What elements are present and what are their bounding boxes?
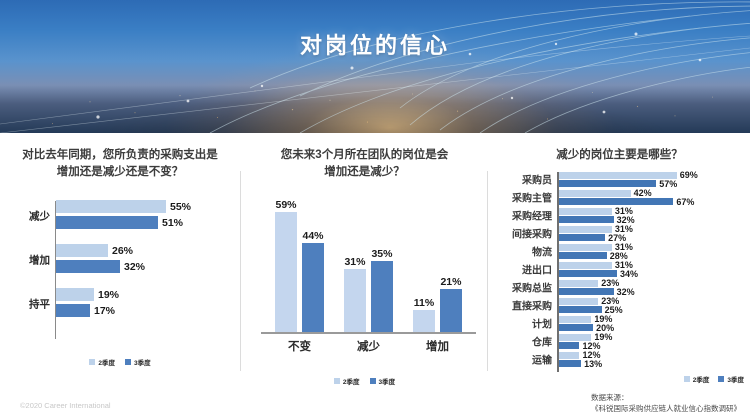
header-banner: 对岗位的信心	[0, 0, 750, 133]
chart-3-category-label: 仓库	[489, 334, 552, 349]
chart-3-bar-row: 34%	[559, 270, 750, 277]
legend-label-q3: 3季度	[727, 374, 744, 384]
chart-1-bar-pair: 26%32%	[56, 241, 240, 279]
chart-3-bar-row: 32%	[559, 216, 750, 223]
chart-3-value-label-q3: 67%	[673, 197, 694, 207]
chart-3-bar-row: 67%	[559, 198, 750, 205]
chart-2-bar-q3	[371, 261, 393, 332]
chart-3-row: 间接采购31%27%	[489, 224, 750, 242]
legend-item-q2: 2季度	[89, 357, 115, 367]
legend-item-q3: 3季度	[718, 374, 744, 384]
chart-3-bar-q2	[559, 244, 612, 251]
chart-1-value-label-q2: 26%	[108, 245, 133, 257]
chart-1-bar-row: 19%	[56, 288, 240, 301]
chart-3-category-label: 采购经理	[489, 208, 552, 223]
chart-3-bar-row: 12%	[559, 352, 750, 359]
chart-3-bar-row: 27%	[559, 234, 750, 241]
chart-3-bar-row: 31%	[559, 244, 750, 251]
chart-1-category-label: 减少	[0, 209, 50, 224]
chart-3-bar-q3	[559, 216, 614, 223]
chart-1-bar-row: 17%	[56, 304, 240, 317]
chart-3-bar-q3	[559, 180, 656, 187]
chart-1-title: 对比去年同期，您所负责的采购支出是 增加还是减少还是不变？	[0, 133, 240, 181]
chart-3-bar-pair: 31%27%	[559, 224, 750, 242]
chart-3-bar-row: 31%	[559, 226, 750, 233]
chart-3-bar-q3	[559, 234, 605, 241]
chart-3-category-label: 计划	[489, 316, 552, 331]
chart-3-bar-row: 31%	[559, 262, 750, 269]
chart-3-value-label-q3: 28%	[607, 251, 628, 261]
chart-3-bar-row: 19%	[559, 316, 750, 323]
chart-3-bar-q2	[559, 226, 612, 233]
chart-1-group: 持平19%17%	[0, 285, 240, 323]
chart-3-row: 采购主管42%67%	[489, 188, 750, 206]
chart-3-category-label: 进出口	[489, 262, 552, 277]
chart-2-category-label: 不变	[265, 338, 334, 354]
chart-1-value-label-q2: 55%	[166, 201, 191, 213]
chart-1-bar-q3	[56, 260, 120, 273]
legend-swatch-icon-q3	[370, 378, 376, 384]
legend-item-q2: 2季度	[334, 376, 360, 386]
chart-2-value-label-q2: 59%	[275, 199, 296, 211]
chart-3-bar-q3	[559, 198, 673, 205]
legend-item-q3: 3季度	[370, 376, 396, 386]
legend-label-q3: 3季度	[379, 376, 396, 386]
chart-1-bar-q2	[56, 200, 166, 213]
chart-2-bar-wrap: 44%	[302, 243, 324, 332]
chart-2-plot: 59%44%31%35%11%21% 不变减少增加	[243, 191, 486, 366]
chart-2-bar-q3	[440, 289, 462, 332]
chart-3-bar-q2	[559, 172, 677, 179]
chart-3-value-label-q3: 13%	[581, 359, 602, 369]
chart-1-value-label-q3: 51%	[158, 217, 183, 229]
chart-3-row: 运输12%13%	[489, 350, 750, 368]
chart-3-plot: 2季度 3季度 采购员69%57%采购主管42%67%采购经理31%32%间接采…	[489, 170, 750, 380]
chart-2-bar-q2	[413, 310, 435, 332]
legend-swatch-icon-q3	[125, 359, 131, 365]
legend-swatch-icon-q3	[718, 376, 724, 382]
chart-1-group: 减少55%51%	[0, 197, 240, 235]
chart-3-bar-q2	[559, 208, 612, 215]
chart-3-bar-q3	[559, 252, 607, 259]
chart-2-category-labels: 不变减少增加	[265, 338, 472, 354]
chart-3-bar-row: 42%	[559, 190, 750, 197]
chart-1-plot: 减少55%51%增加26%32%持平19%17%	[0, 197, 240, 347]
chart-2-legend: 2季度 3季度	[243, 376, 486, 386]
chart-3-bar-pair: 19%20%	[559, 314, 750, 332]
chart-3-row: 采购员69%57%	[489, 170, 750, 188]
chart-2-value-label-q2: 31%	[344, 256, 365, 268]
chart-3-bar-q2	[559, 190, 631, 197]
chart-3-value-label-q2: 42%	[631, 188, 652, 198]
chart-3-bar-pair: 23%25%	[559, 296, 750, 314]
chart-3-bar-row: 20%	[559, 324, 750, 331]
chart-2-baseline	[261, 332, 476, 334]
chart-3-category-label: 直接采购	[489, 298, 552, 313]
chart-2-bar-wrap: 21%	[440, 289, 462, 332]
chart-2-value-label-q2: 11%	[414, 297, 434, 309]
chart-2-bar-q2	[275, 212, 297, 332]
chart-3-value-label-q3: 32%	[614, 215, 635, 225]
page-title: 对岗位的信心	[0, 28, 750, 60]
panel-divider-1	[240, 171, 241, 371]
chart-3-value-label-q3: 12%	[579, 341, 600, 351]
chart-1-bar-pair: 55%51%	[56, 197, 240, 235]
chart-3-row: 进出口31%34%	[489, 260, 750, 278]
chart-3-row: 采购总监23%32%	[489, 278, 750, 296]
chart-panel-roles: 减少的岗位主要是哪些？ 2季度 3季度 采购员69%57%采购主管42%67%采…	[489, 133, 750, 419]
legend-label-q3: 3季度	[134, 357, 151, 367]
chart-3-category-label: 运输	[489, 352, 552, 367]
chart-2-group: 31%35%	[334, 197, 403, 332]
chart-1-value-label-q3: 32%	[120, 261, 145, 273]
chart-3-bar-pair: 69%57%	[559, 170, 750, 188]
chart-3-value-label-q2: 69%	[677, 170, 698, 180]
data-source-label: 数据来源：	[591, 392, 741, 403]
chart-2-bars: 59%44%31%35%11%21%	[265, 197, 472, 332]
legend-item-q2: 2季度	[684, 374, 710, 384]
chart-3-value-label-q3: 57%	[656, 179, 677, 189]
chart-3-bar-pair: 31%34%	[559, 260, 750, 278]
chart-3-value-label-q3: 32%	[614, 287, 635, 297]
chart-1-group: 增加26%32%	[0, 241, 240, 279]
chart-1-category-label: 增加	[0, 253, 50, 268]
chart-3-bar-q2	[559, 352, 579, 359]
chart-3-bar-q3	[559, 270, 617, 277]
chart-3-bar-q2	[559, 298, 598, 305]
chart-3-bar-q2	[559, 334, 591, 341]
chart-2-category-label: 减少	[334, 338, 403, 354]
chart-3-bar-row: 19%	[559, 334, 750, 341]
chart-3-bar-q2	[559, 280, 598, 287]
chart-1-bar-pair: 19%17%	[56, 285, 240, 323]
chart-2-value-label-q3: 21%	[440, 276, 461, 288]
chart-3-title: 减少的岗位主要是哪些？	[489, 133, 750, 164]
chart-2-bar-wrap: 35%	[371, 261, 393, 332]
chart-3-category-label: 物流	[489, 244, 552, 259]
slide-page: 对岗位的信心 对比去年同期，您所负责的采购支出是 增加还是减少还是不变？ 减少5…	[0, 0, 750, 419]
legend-swatch-icon-q2	[334, 378, 340, 384]
data-source-note: 数据来源： 《科锐国际采购供应链人就业信心指数调研》	[591, 392, 741, 414]
chart-1-bar-row: 51%	[56, 216, 240, 229]
chart-3-bar-q3	[559, 324, 593, 331]
chart-2-title: 您未来3个月所在团队的岗位是会 增加还是减少？	[243, 133, 486, 181]
chart-3-bar-row: 31%	[559, 208, 750, 215]
chart-3-legend: 2季度 3季度	[684, 374, 744, 384]
chart-3-value-label-q3: 25%	[602, 305, 623, 315]
chart-3-bar-pair: 31%28%	[559, 242, 750, 260]
chart-3-bar-pair: 23%32%	[559, 278, 750, 296]
chart-3-value-label-q3: 34%	[617, 269, 638, 279]
chart-2-bar-wrap: 11%	[413, 310, 435, 332]
chart-3-bar-row: 23%	[559, 298, 750, 305]
chart-3-bar-row: 23%	[559, 280, 750, 287]
chart-3-bar-row: 28%	[559, 252, 750, 259]
chart-3-bar-q3	[559, 306, 602, 313]
chart-2-bar-q2	[344, 269, 366, 332]
charts-area: 对比去年同期，您所负责的采购支出是 增加还是减少还是不变？ 减少55%51%增加…	[0, 133, 750, 419]
chart-1-bar-q3	[56, 216, 158, 229]
chart-3-category-label: 间接采购	[489, 226, 552, 241]
legend-swatch-icon-q2	[684, 376, 690, 382]
chart-1-bar-row: 26%	[56, 244, 240, 257]
legend-label-q2: 2季度	[693, 374, 710, 384]
chart-3-bar-q3	[559, 360, 581, 367]
chart-3-bar-row: 13%	[559, 360, 750, 367]
chart-3-bar-row: 12%	[559, 342, 750, 349]
chart-2-bar-q3	[302, 243, 324, 332]
chart-panel-headcount: 您未来3个月所在团队的岗位是会 增加还是减少？ 59%44%31%35%11%2…	[243, 133, 486, 419]
chart-3-category-label: 采购主管	[489, 190, 552, 205]
chart-1-category-label: 持平	[0, 297, 50, 312]
chart-3-bar-q3	[559, 288, 614, 295]
chart-2-bar-wrap: 59%	[275, 212, 297, 332]
chart-3-category-label: 采购员	[489, 172, 552, 187]
chart-3-category-label: 采购总监	[489, 280, 552, 295]
chart-2-bar-wrap: 31%	[344, 269, 366, 332]
chart-3-bar-pair: 31%32%	[559, 206, 750, 224]
chart-3-bar-q3	[559, 342, 579, 349]
chart-3-row: 仓库19%12%	[489, 332, 750, 350]
chart-1-value-label-q3: 17%	[90, 305, 115, 317]
chart-3-bar-row: 32%	[559, 288, 750, 295]
legend-label-q2: 2季度	[98, 357, 115, 367]
chart-3-value-label-q3: 27%	[605, 233, 626, 243]
chart-1-value-label-q2: 19%	[94, 289, 119, 301]
chart-3-row: 采购经理31%32%	[489, 206, 750, 224]
chart-1-bar-row: 32%	[56, 260, 240, 273]
chart-1-bar-row: 55%	[56, 200, 240, 213]
chart-3-bar-pair: 42%67%	[559, 188, 750, 206]
chart-2-category-label: 增加	[403, 338, 472, 354]
chart-1-bar-q3	[56, 304, 90, 317]
chart-2-group: 11%21%	[403, 197, 472, 332]
legend-label-q2: 2季度	[343, 376, 360, 386]
chart-3-bar-row: 69%	[559, 172, 750, 179]
network-arcs-graphic	[0, 0, 750, 133]
data-source-title: 《科锐国际采购供应链人就业信心指数调研》	[591, 403, 741, 414]
chart-3-value-label-q3: 20%	[593, 323, 614, 333]
chart-3-bar-pair: 19%12%	[559, 332, 750, 350]
panel-divider-2	[487, 171, 488, 371]
chart-1-bar-q2	[56, 244, 108, 257]
chart-1-bar-q2	[56, 288, 94, 301]
chart-3-bar-pair: 12%13%	[559, 350, 750, 368]
chart-3-row: 直接采购23%25%	[489, 296, 750, 314]
chart-3-bar-row: 57%	[559, 180, 750, 187]
legend-swatch-icon-q2	[89, 359, 95, 365]
chart-3-row: 物流31%28%	[489, 242, 750, 260]
chart-panel-spend: 对比去年同期，您所负责的采购支出是 增加还是减少还是不变？ 减少55%51%增加…	[0, 133, 240, 419]
chart-2-value-label-q3: 44%	[302, 230, 323, 242]
legend-item-q3: 3季度	[125, 357, 151, 367]
copyright-text: ©2020 Career International	[20, 401, 111, 410]
chart-2-value-label-q3: 35%	[371, 248, 392, 260]
chart-1-legend: 2季度 3季度	[0, 357, 240, 367]
chart-3-bar-q2	[559, 316, 591, 323]
chart-3-bar-row: 25%	[559, 306, 750, 313]
chart-3-bar-q2	[559, 262, 612, 269]
chart-3-row: 计划19%20%	[489, 314, 750, 332]
chart-2-group: 59%44%	[265, 197, 334, 332]
